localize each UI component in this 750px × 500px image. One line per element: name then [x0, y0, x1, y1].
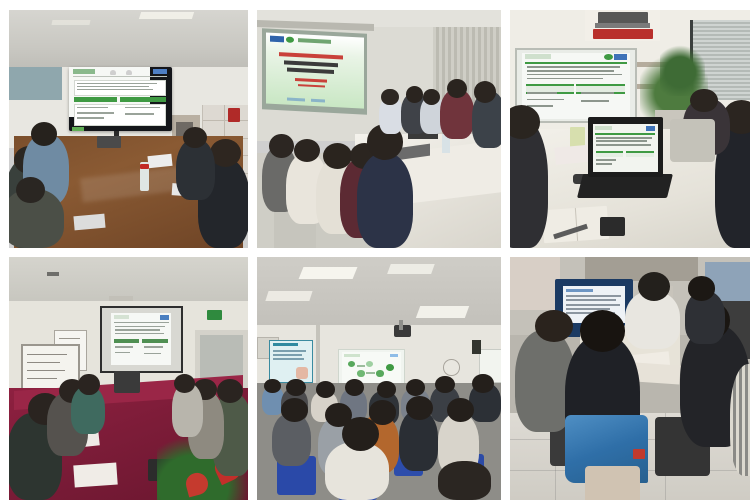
- person-head: [78, 374, 100, 396]
- document-paper: [634, 362, 680, 385]
- person-head: [16, 177, 45, 203]
- chair: [114, 371, 140, 393]
- person-head: [381, 89, 398, 106]
- wall-accent-panel: [9, 67, 62, 100]
- person-attendee: [510, 119, 548, 248]
- person-head: [472, 374, 494, 393]
- ceiling-light-icon: [387, 264, 434, 274]
- person-audience: [438, 461, 492, 500]
- person-head: [316, 381, 336, 398]
- photo-cell-2[interactable]: [257, 10, 501, 248]
- person-head: [269, 134, 293, 158]
- person-head: [535, 310, 573, 342]
- ceiling-light-icon: [265, 291, 312, 301]
- photo-4-red-table-meeting: [9, 257, 248, 500]
- title-slide: [266, 32, 364, 109]
- person-head: [435, 376, 455, 393]
- banner-slogan-text: [593, 29, 653, 39]
- person-attendee: [357, 153, 413, 248]
- photo-5-lecture-hall: [257, 257, 501, 500]
- photo-3-office-meeting: [510, 10, 750, 248]
- person-head: [217, 379, 243, 403]
- photo-collage-grid: [0, 0, 750, 500]
- projection-screen: [100, 306, 183, 373]
- ceiling-light-icon: [139, 12, 194, 19]
- photo-cell-1[interactable]: [9, 10, 248, 248]
- photo-cell-3[interactable]: [510, 10, 750, 248]
- photo-6-office-workstation: [510, 257, 750, 500]
- office-chair: [670, 119, 715, 162]
- safety-sign-icon: [228, 108, 240, 122]
- person-head: [447, 79, 467, 98]
- smartphone: [600, 217, 625, 236]
- projector-mount: [399, 320, 404, 330]
- person-head: [345, 379, 365, 396]
- laptop-keyboard: [577, 174, 673, 198]
- skirt: [585, 466, 640, 500]
- bottle-cap: [140, 164, 148, 170]
- ceiling-light-icon: [52, 20, 91, 25]
- photo-2-training-room: [257, 10, 501, 248]
- wall-clock-icon: [443, 359, 460, 376]
- photo-cell-4[interactable]: [9, 257, 248, 500]
- wall-panel: [510, 257, 560, 310]
- exit-sign-icon: [207, 310, 221, 320]
- pipe: [316, 325, 321, 383]
- open-notebook: [541, 205, 608, 243]
- person-head: [31, 122, 57, 146]
- speaker-icon: [472, 340, 482, 355]
- photo-cell-6[interactable]: [510, 257, 750, 500]
- person-head: [423, 89, 440, 106]
- ceiling-light-icon: [416, 306, 469, 318]
- laptop-screen-content: [593, 124, 658, 172]
- document-paper: [73, 462, 117, 487]
- person-head: [638, 272, 671, 301]
- notice-poster: [269, 340, 312, 383]
- conference-camera: [97, 136, 121, 148]
- banner-subtitle-text: [595, 23, 650, 28]
- potted-plant-foliage: [660, 43, 705, 95]
- person-head: [377, 381, 397, 398]
- photo-cell-5[interactable]: [257, 257, 501, 500]
- person-head: [406, 396, 433, 420]
- person-head: [580, 310, 625, 351]
- person-head: [474, 81, 496, 102]
- jacket-logo: [633, 449, 646, 459]
- photo-1-conference-room: [9, 10, 248, 248]
- wall-display: [69, 67, 172, 131]
- ceiling: [9, 10, 248, 72]
- person-head: [688, 276, 716, 300]
- person-head: [406, 86, 423, 103]
- person-head: [406, 379, 426, 396]
- ceiling-light-icon: [47, 272, 59, 277]
- document-paper: [73, 213, 105, 230]
- person-head: [690, 89, 718, 113]
- person-head: [286, 379, 306, 396]
- ceiling-light-icon: [298, 267, 357, 279]
